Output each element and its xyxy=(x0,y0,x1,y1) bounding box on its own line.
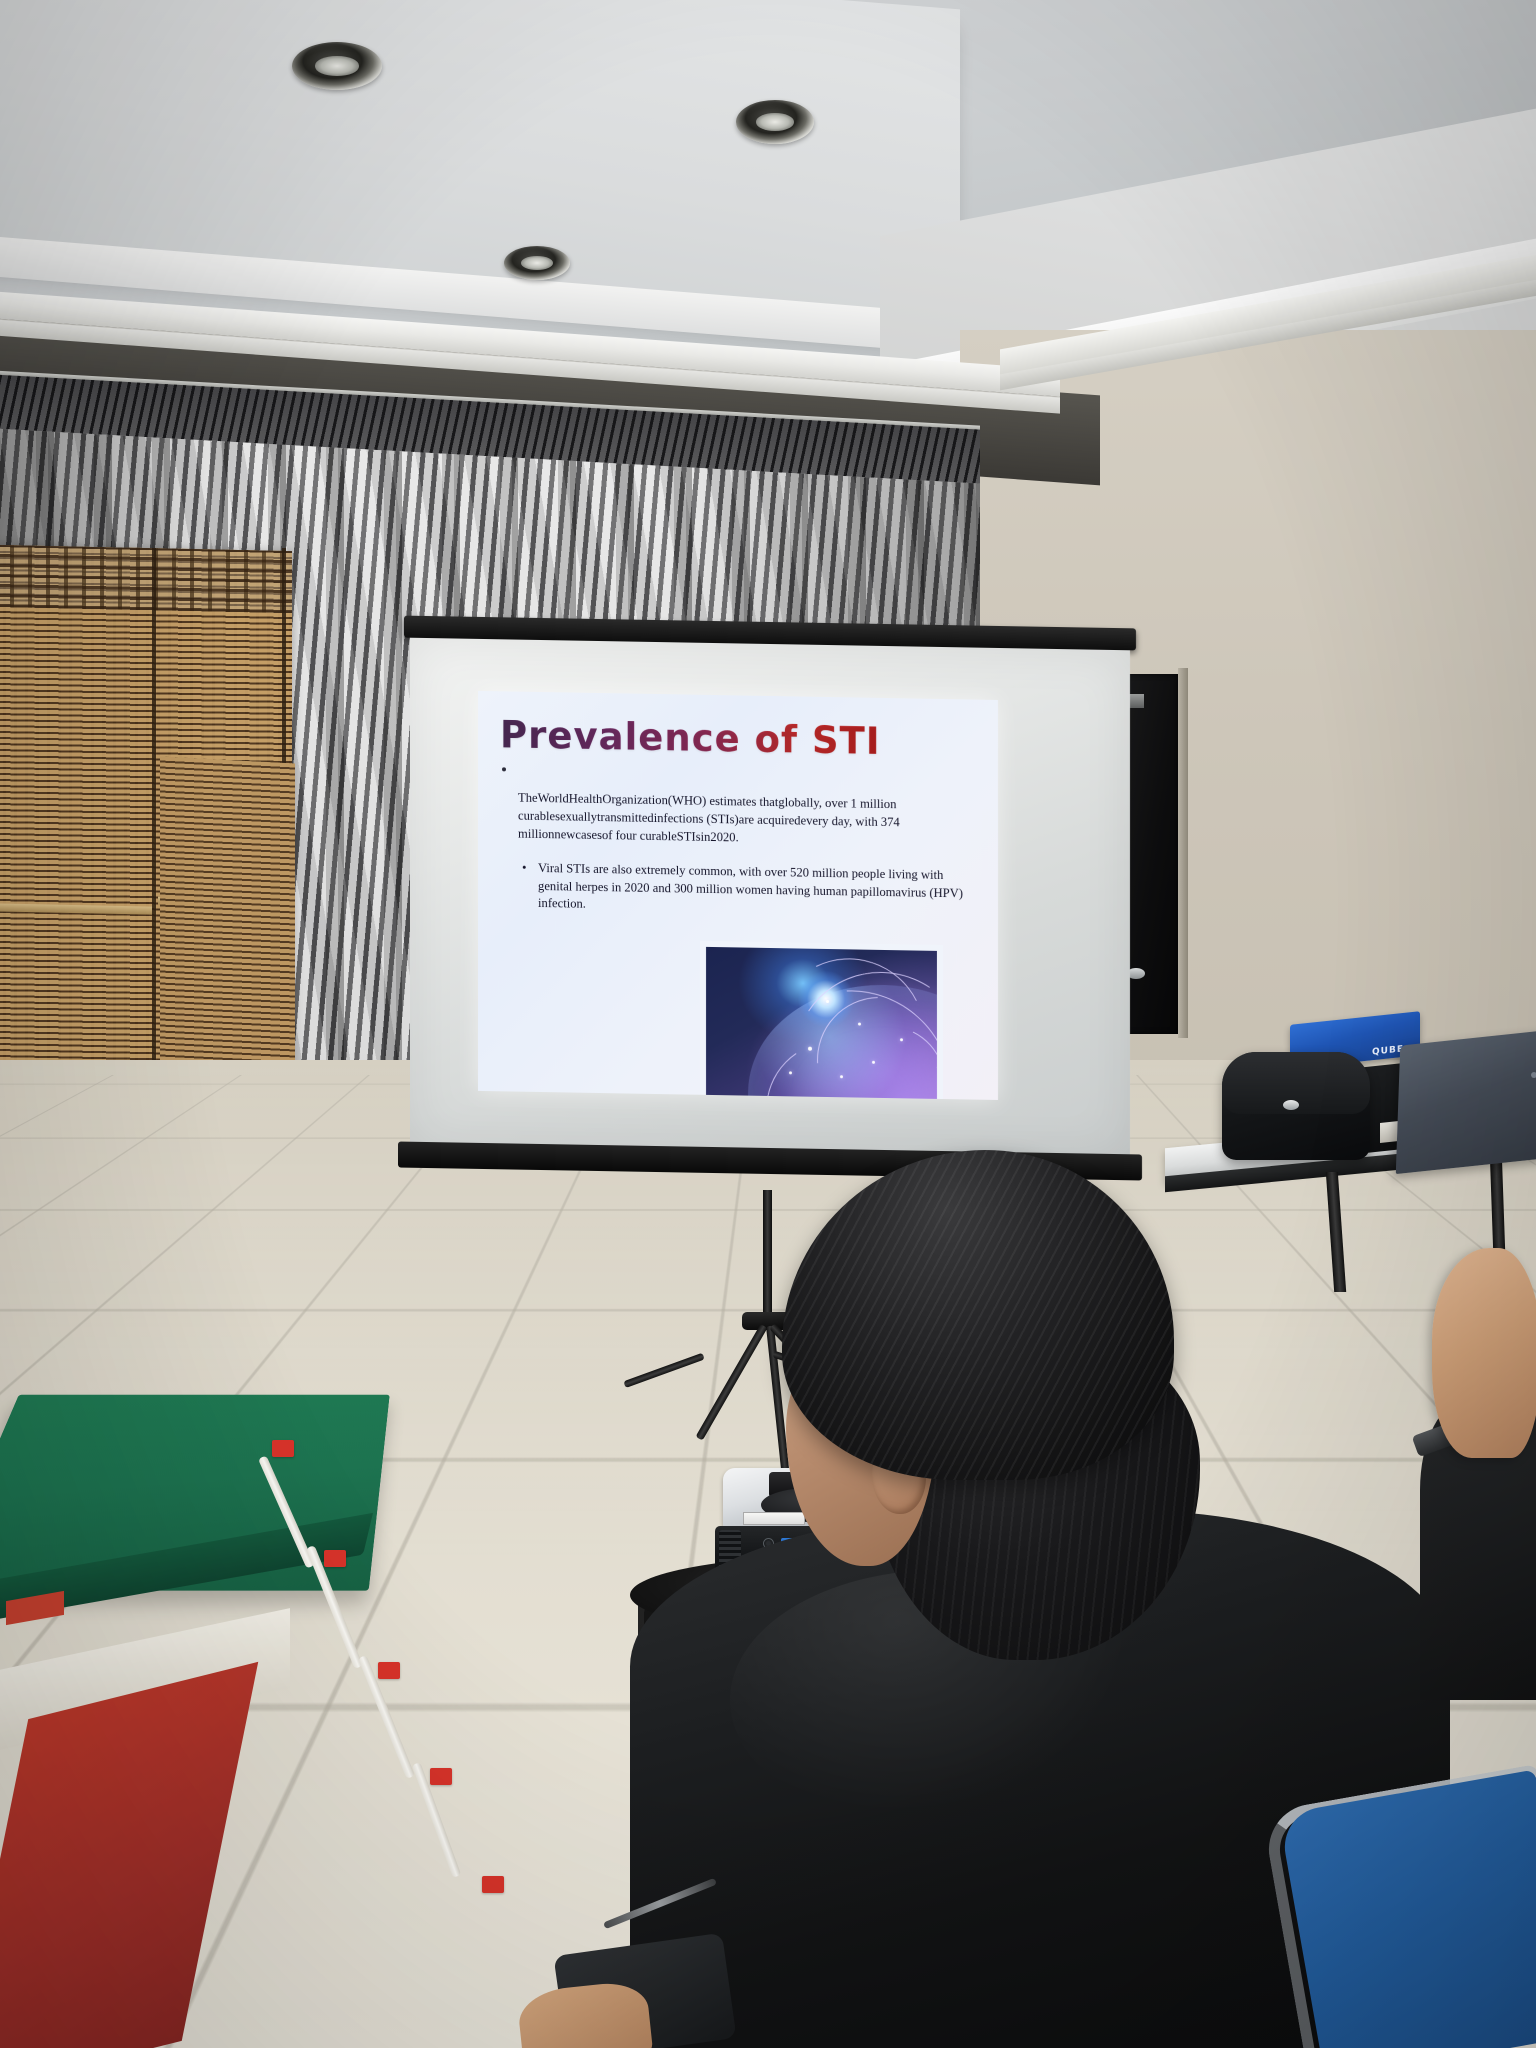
conference-room-photo: Prevalence of STI TheWorldHealthOrganiza… xyxy=(0,0,1536,2048)
cable-tape-marker xyxy=(324,1550,346,1567)
ceiling-downlight-1 xyxy=(292,42,382,90)
downlight-bulb xyxy=(521,256,553,270)
downlight-bulb xyxy=(315,56,358,75)
slide-body: TheWorldHealthOrganization(WHO) estimate… xyxy=(518,790,968,937)
attendee-raised-hand xyxy=(1432,1248,1536,1458)
network-node xyxy=(872,1060,875,1063)
cable-tape-marker xyxy=(430,1768,452,1785)
network-node xyxy=(808,1047,812,1051)
slide-title: Prevalence of STI xyxy=(500,713,881,763)
attendee-hair xyxy=(782,1150,1174,1480)
cable-tape-marker xyxy=(378,1662,400,1679)
ceiling-downlight-2 xyxy=(736,100,814,144)
rattan-divider-top-panel xyxy=(0,545,292,613)
slide-globe-image xyxy=(700,941,943,1100)
network-node xyxy=(826,1000,829,1003)
downlight-bulb xyxy=(756,113,793,131)
rattan-divider-lower-panel xyxy=(160,756,295,1093)
door-jamb xyxy=(1178,668,1188,1038)
bag-logo-icon xyxy=(1283,1100,1299,1110)
blue-chair-back[interactable] xyxy=(1279,1769,1536,2048)
slide-paragraph: TheWorldHealthOrganization(WHO) estimate… xyxy=(518,790,968,851)
cable-tape-marker xyxy=(272,1440,294,1457)
ceiling-downlight-3 xyxy=(504,246,570,280)
projection-screen: Prevalence of STI TheWorldHealthOrganiza… xyxy=(410,626,1130,1199)
rattan-divider-seam xyxy=(152,548,156,1108)
slide-stray-bullet xyxy=(502,767,506,771)
screen-surface: Prevalence of STI TheWorldHealthOrganiza… xyxy=(410,638,1130,1159)
cable-tape-marker xyxy=(482,1876,504,1893)
projected-slide: Prevalence of STI TheWorldHealthOrganiza… xyxy=(478,691,998,1100)
laptop-camera-icon xyxy=(1531,1072,1536,1078)
slide-bullet: Viral STIs are also extremely common, wi… xyxy=(518,859,968,920)
